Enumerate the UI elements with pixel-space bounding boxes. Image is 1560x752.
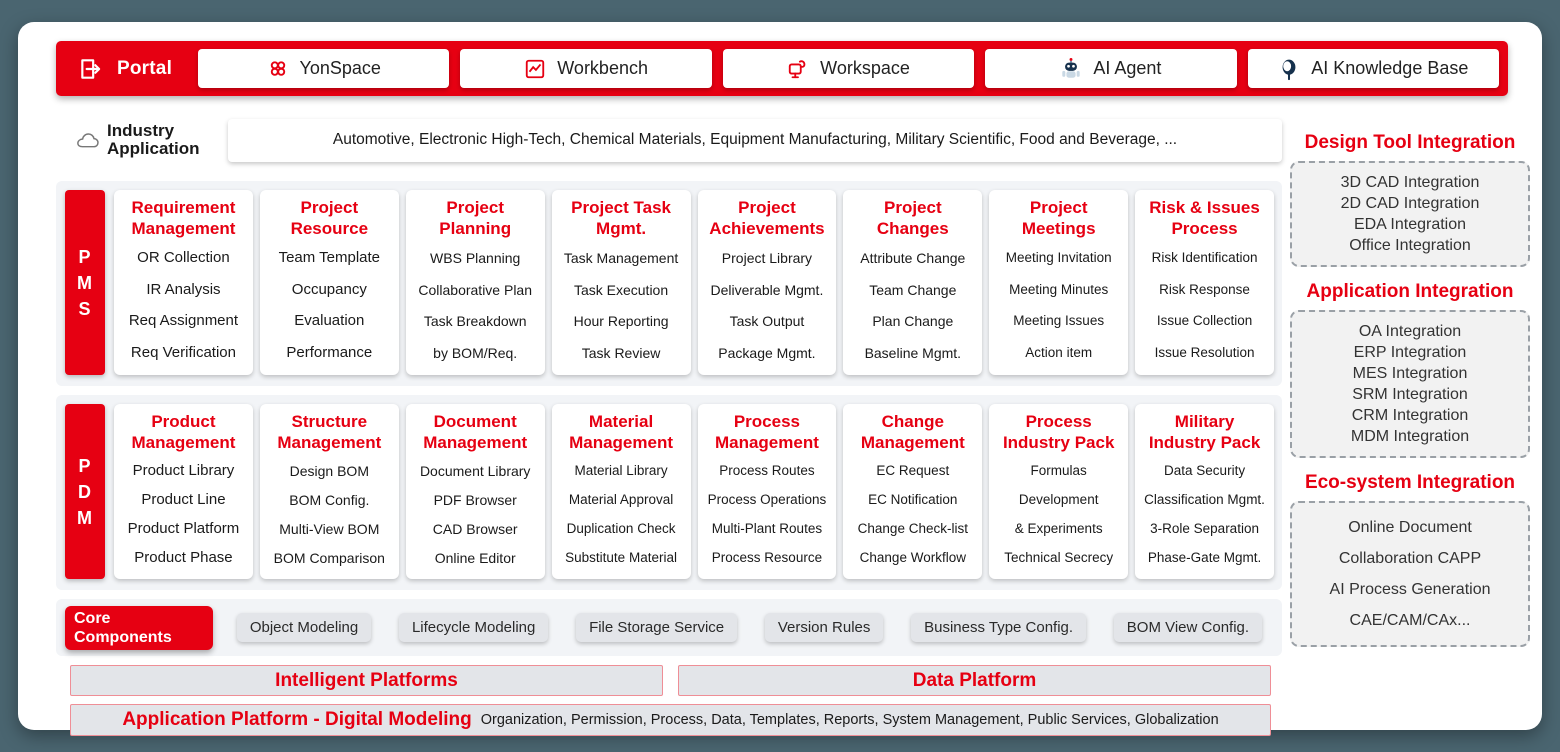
industry-value-box: Automotive, Electronic High-Tech, Chemic… [228, 119, 1282, 162]
integration-item[interactable]: MES Integration [1353, 363, 1468, 384]
tab-ai-knowledge-base-label: AI Knowledge Base [1311, 58, 1468, 79]
module-item[interactable]: Design BOM [262, 462, 397, 480]
module-item[interactable]: Process Resource [700, 549, 835, 567]
module-item[interactable]: Issue Collection [1137, 312, 1272, 330]
module-item[interactable]: Multi-Plant Routes [700, 520, 835, 538]
module-card-process-management[interactable]: Process Management Process Routes Proces… [698, 404, 837, 579]
platform-bar-data-platform[interactable]: Data Platform [678, 665, 1271, 696]
integration-item[interactable]: SRM Integration [1352, 384, 1468, 405]
module-card-title: Project Resource [291, 197, 368, 239]
module-card-title: Material Management [569, 411, 673, 453]
tab-workspace-label: Workspace [820, 58, 910, 79]
industry-line1: Industry [107, 121, 174, 140]
module-card-items: OR Collection IR Analysis Req Assignment… [116, 242, 251, 369]
integration-column: Design Tool Integration 3D CAD Integrati… [1290, 132, 1530, 653]
page-root: Portal YonSpace [0, 0, 1560, 752]
module-card-items: Material Library Material Approval Dupli… [554, 456, 689, 573]
module-item[interactable]: & Experiments [991, 520, 1126, 538]
module-item[interactable]: Change Workflow [845, 549, 980, 567]
module-card-title: Process Management [715, 411, 819, 453]
module-card-project-meetings[interactable]: Project Meetings Meeting Invitation Meet… [989, 190, 1128, 375]
module-item[interactable]: IR Analysis [116, 281, 251, 299]
module-item[interactable]: Product Platform [116, 520, 251, 538]
portal-label: Portal [117, 58, 172, 80]
yonspace-clover-icon [267, 58, 289, 80]
module-card-items: Design BOM BOM Config. Multi-View BOM BO… [262, 456, 397, 573]
application-platform-subtitle: Organization, Permission, Process, Data,… [481, 712, 1219, 728]
core-chip-file-storage-service[interactable]: File Storage Service [576, 613, 737, 642]
top-navbar: Portal YonSpace [56, 41, 1508, 96]
module-item[interactable]: Package Mgmt. [700, 344, 835, 362]
module-card-items: Product Library Product Line Product Pla… [116, 456, 251, 573]
module-card-items: Attribute Change Team Change Plan Change… [845, 242, 980, 369]
module-item[interactable]: Req Verification [116, 344, 251, 362]
module-card-title: Project Task Mgmt. [571, 197, 671, 239]
pms-letter-s: S [78, 296, 91, 322]
integration-title: Design Tool Integration [1290, 132, 1530, 154]
tab-ai-agent-label: AI Agent [1093, 58, 1161, 79]
module-item[interactable]: Risk Identification [1137, 249, 1272, 267]
module-item[interactable]: EC Request [845, 462, 980, 480]
module-item[interactable]: Process Routes [700, 462, 835, 480]
nav-tab-list: YonSpace Workbench [198, 49, 1508, 88]
module-card-title: Military Industry Pack [1149, 411, 1261, 453]
module-item[interactable]: Team Template [262, 249, 397, 267]
login-arrow-icon [78, 56, 104, 82]
pms-letter-m: M [77, 270, 93, 296]
module-card-project-resource[interactable]: Project Resource Team Template Occupancy… [260, 190, 399, 375]
pms-panel: P M S Requirement Management OR Collecti… [56, 181, 1282, 386]
industry-application-row: IndustryApplication Automotive, Electron… [56, 114, 1282, 166]
module-card-risk-issues-process[interactable]: Risk & Issues Process Risk Identificatio… [1135, 190, 1274, 375]
module-item[interactable]: Action item [991, 344, 1126, 362]
module-card-items: Risk Identification Risk Response Issue … [1137, 242, 1272, 369]
pdm-letter-p: P [78, 453, 91, 479]
module-item[interactable]: Change Check-list [845, 520, 980, 538]
module-item[interactable]: Team Change [845, 281, 980, 299]
main-card: Portal YonSpace [18, 22, 1542, 730]
module-card-title: Project Achievements [709, 197, 824, 239]
module-item[interactable]: Product Phase [116, 549, 251, 567]
module-item[interactable]: Online Editor [408, 549, 543, 567]
module-item[interactable]: Task Review [554, 344, 689, 362]
core-tag-line1: Core [74, 609, 213, 628]
module-item[interactable]: Duplication Check [554, 520, 689, 538]
pdm-panel: P D M Product Management Product Library… [56, 395, 1282, 590]
core-chip-list: Object Modeling Lifecycle Modeling File … [213, 613, 1272, 642]
module-item[interactable]: Meeting Issues [991, 312, 1126, 330]
core-chip-version-rules[interactable]: Version Rules [765, 613, 884, 642]
module-card-title: Risk & Issues Process [1149, 197, 1260, 239]
core-chip-object-modeling[interactable]: Object Modeling [237, 613, 371, 642]
module-card-items: EC Request EC Notification Change Check-… [845, 456, 980, 573]
module-card-project-achievements[interactable]: Project Achievements Project Library Del… [698, 190, 837, 375]
module-card-items: Team Template Occupancy Evaluation Perfo… [262, 242, 397, 369]
core-components-tag: Core Components [65, 606, 213, 650]
integration-item[interactable]: EDA Integration [1354, 214, 1466, 235]
tab-workbench-label: Workbench [557, 58, 648, 79]
tab-ai-agent[interactable]: AI Agent [985, 49, 1236, 88]
platform-bar-intelligent-platforms[interactable]: Intelligent Platforms [70, 665, 663, 696]
tab-yonspace-label: YonSpace [300, 58, 381, 79]
module-item[interactable]: WBS Planning [408, 249, 543, 267]
module-card-title: Product Management [131, 411, 235, 453]
core-chip-bom-view-config[interactable]: BOM View Config. [1114, 613, 1262, 642]
integration-item[interactable]: OA Integration [1359, 321, 1461, 342]
module-item[interactable]: Material Library [554, 462, 689, 480]
integration-item[interactable]: AI Process Generation [1330, 574, 1491, 605]
integration-box: OA Integration ERP Integration MES Integ… [1290, 310, 1530, 458]
industry-line2: Application [107, 139, 200, 158]
module-item[interactable]: EC Notification [845, 491, 980, 509]
module-card-title: Structure Management [277, 411, 381, 453]
tab-workspace[interactable]: Workspace [723, 49, 974, 88]
module-item[interactable]: Issue Resolution [1137, 344, 1272, 362]
module-item[interactable]: Task Output [700, 312, 835, 330]
module-card-material-management[interactable]: Material Management Material Library Mat… [552, 404, 691, 579]
core-components-panel: Core Components Object Modeling Lifecycl… [56, 599, 1282, 656]
cloud-icon [76, 132, 100, 149]
platform-bar-row: Intelligent Platforms Data Platform [70, 665, 1271, 696]
integration-group-application: Application Integration OA Integration E… [1290, 281, 1530, 458]
module-card-title: Project Meetings [1022, 197, 1096, 239]
module-item[interactable]: Baseline Mgmt. [845, 344, 980, 362]
integration-item[interactable]: CRM Integration [1352, 405, 1469, 426]
module-item[interactable]: Performance [262, 344, 397, 362]
module-item[interactable]: PDF Browser [408, 491, 543, 509]
module-card-items: Formulas Development & Experiments Techn… [991, 456, 1126, 573]
module-item[interactable]: Occupancy [262, 281, 397, 299]
module-card-military-industry-pack[interactable]: Military Industry Pack Data Security Cla… [1135, 404, 1274, 579]
module-item[interactable]: Formulas [991, 462, 1126, 480]
module-item[interactable]: 3-Role Separation [1137, 520, 1272, 538]
module-item[interactable]: Hour Reporting [554, 312, 689, 330]
core-chip-business-type-config[interactable]: Business Type Config. [911, 613, 1086, 642]
module-card-items: Meeting Invitation Meeting Minutes Meeti… [991, 242, 1126, 369]
module-item[interactable]: BOM Comparison [262, 549, 397, 567]
module-item[interactable]: Development [991, 491, 1126, 509]
integration-item[interactable]: CAE/CAM/CAx... [1350, 605, 1471, 636]
ai-robot-icon [1060, 57, 1082, 81]
tab-yonspace[interactable]: YonSpace [198, 49, 449, 88]
module-item[interactable]: Multi-View BOM [262, 520, 397, 538]
industry-application-label: IndustryApplication [107, 122, 200, 158]
module-item[interactable]: Product Library [116, 462, 251, 480]
industry-application-tag: IndustryApplication [56, 122, 228, 158]
module-card-requirement-management[interactable]: Requirement Management OR Collection IR … [114, 190, 253, 375]
core-chip-lifecycle-modeling[interactable]: Lifecycle Modeling [399, 613, 548, 642]
module-card-title: Change Management [861, 411, 965, 453]
module-item[interactable]: Attribute Change [845, 249, 980, 267]
integration-item[interactable]: ERP Integration [1354, 342, 1467, 363]
pms-card-list: Requirement Management OR Collection IR … [114, 190, 1274, 375]
module-card-project-changes[interactable]: Project Changes Attribute Change Team Ch… [843, 190, 982, 375]
module-item[interactable]: CAD Browser [408, 520, 543, 538]
pdm-spine-label: P D M [65, 404, 105, 579]
module-card-items: WBS Planning Collaborative Plan Task Bre… [408, 242, 543, 369]
module-item[interactable]: Req Assignment [116, 312, 251, 330]
module-item[interactable]: Plan Change [845, 312, 980, 330]
application-platform-bar[interactable]: Application Platform - Digital Modeling … [70, 704, 1271, 736]
tab-ai-knowledge-base[interactable]: AI Knowledge Base [1248, 49, 1499, 88]
module-card-title: Process Industry Pack [1003, 411, 1115, 453]
module-item[interactable]: Product Line [116, 491, 251, 509]
pms-spine-label: P M S [65, 190, 105, 375]
module-item[interactable]: Substitute Material [554, 549, 689, 567]
module-item[interactable]: Collaborative Plan [408, 281, 543, 299]
module-card-items: Process Routes Process Operations Multi-… [700, 456, 835, 573]
tab-workbench[interactable]: Workbench [460, 49, 711, 88]
module-item[interactable]: Task Breakdown [408, 312, 543, 330]
workbench-chart-icon [524, 58, 546, 80]
module-item[interactable]: Meeting Invitation [991, 249, 1126, 267]
module-item[interactable]: Evaluation [262, 312, 397, 330]
module-item[interactable]: Deliverable Mgmt. [700, 281, 835, 299]
module-item[interactable]: BOM Config. [262, 491, 397, 509]
module-card-change-management[interactable]: Change Management EC Request EC Notifica… [843, 404, 982, 579]
module-item[interactable]: Material Approval [554, 491, 689, 509]
module-card-title: Project Planning [439, 197, 511, 239]
integration-title: Eco-system Integration [1290, 472, 1530, 494]
integration-box: Online Document Collaboration CAPP AI Pr… [1290, 501, 1530, 647]
module-item[interactable]: Task Management [554, 249, 689, 267]
module-card-title: Document Management [423, 411, 527, 453]
integration-group-design-tool: Design Tool Integration 3D CAD Integrati… [1290, 132, 1530, 267]
module-card-items: Data Security Classification Mgmt. 3-Rol… [1137, 456, 1272, 573]
integration-title: Application Integration [1290, 281, 1530, 303]
module-card-project-planning[interactable]: Project Planning WBS Planning Collaborat… [406, 190, 545, 375]
module-card-title: Project Changes [877, 197, 949, 239]
integration-item[interactable]: Office Integration [1349, 235, 1471, 256]
module-item[interactable]: Risk Response [1137, 281, 1272, 299]
core-tag-line2: Components [74, 628, 213, 647]
workspace-monitor-icon [787, 58, 809, 80]
ai-knowledge-icon [1278, 57, 1300, 81]
module-item[interactable]: Task Execution [554, 281, 689, 299]
integration-item[interactable]: Online Document [1348, 512, 1472, 543]
module-item[interactable]: Classification Mgmt. [1137, 491, 1272, 509]
integration-item[interactable]: 2D CAD Integration [1341, 193, 1480, 214]
integration-box: 3D CAD Integration 2D CAD Integration ED… [1290, 161, 1530, 267]
module-card-items: Project Library Deliverable Mgmt. Task O… [700, 242, 835, 369]
module-item[interactable]: Document Library [408, 462, 543, 480]
module-card-items: Task Management Task Execution Hour Repo… [554, 242, 689, 369]
pdm-letter-d: D [78, 479, 92, 505]
integration-item[interactable]: Collaboration CAPP [1339, 543, 1481, 574]
module-item[interactable]: Process Operations [700, 491, 835, 509]
module-item[interactable]: by BOM/Req. [408, 344, 543, 362]
integration-group-eco-system: Eco-system Integration Online Document C… [1290, 472, 1530, 647]
pdm-card-list: Product Management Product Library Produ… [114, 404, 1274, 579]
module-item[interactable]: Phase-Gate Mgmt. [1137, 549, 1272, 567]
module-item[interactable]: Project Library [700, 249, 835, 267]
module-card-process-industry-pack[interactable]: Process Industry Pack Formulas Developme… [989, 404, 1128, 579]
portal-button[interactable]: Portal [56, 41, 198, 96]
module-item[interactable]: OR Collection [116, 249, 251, 267]
module-item[interactable]: Technical Secrecy [991, 549, 1126, 567]
module-card-structure-management[interactable]: Structure Management Design BOM BOM Conf… [260, 404, 399, 579]
module-card-title: Requirement Management [131, 197, 235, 239]
pdm-letter-m: M [77, 505, 93, 531]
integration-item[interactable]: 3D CAD Integration [1341, 172, 1480, 193]
module-card-product-management[interactable]: Product Management Product Library Produ… [114, 404, 253, 579]
integration-item[interactable]: MDM Integration [1351, 426, 1469, 447]
module-card-project-task-mgmt[interactable]: Project Task Mgmt. Task Management Task … [552, 190, 691, 375]
application-platform-title: Application Platform - Digital Modeling [122, 709, 471, 731]
module-item[interactable]: Data Security [1137, 462, 1272, 480]
module-card-items: Document Library PDF Browser CAD Browser… [408, 456, 543, 573]
module-card-document-management[interactable]: Document Management Document Library PDF… [406, 404, 545, 579]
pms-letter-p: P [78, 244, 91, 270]
module-item[interactable]: Meeting Minutes [991, 281, 1126, 299]
